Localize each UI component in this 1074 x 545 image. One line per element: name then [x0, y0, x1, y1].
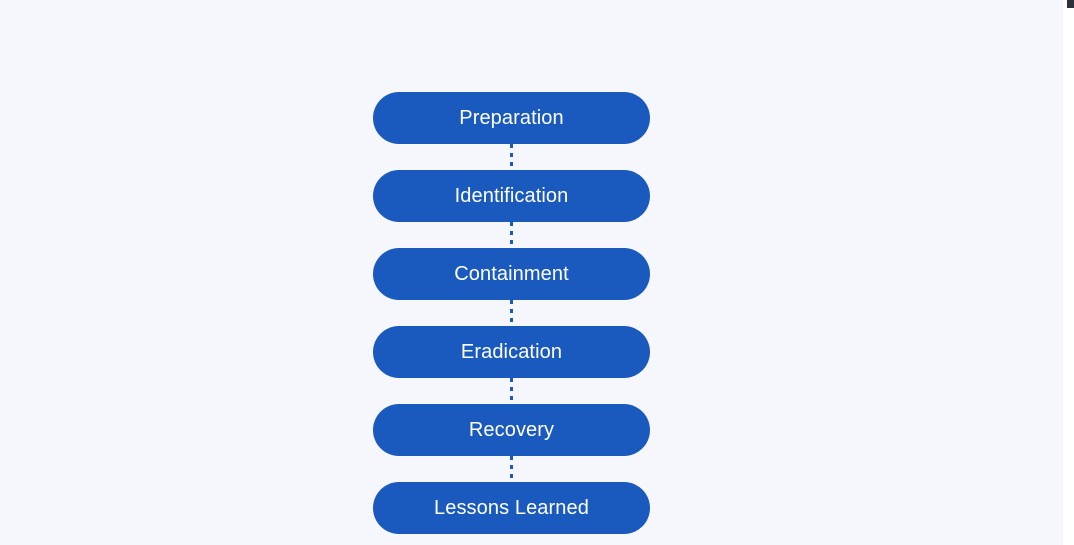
diagram-canvas: Preparation Identification Containment E…: [0, 0, 1074, 545]
flow-connector: [373, 378, 650, 404]
flow-connector: [373, 456, 650, 482]
flowchart: Preparation Identification Containment E…: [373, 92, 650, 534]
flow-row: Preparation: [373, 92, 650, 144]
dotted-line-icon: [510, 144, 513, 170]
flow-row: Eradication: [373, 326, 650, 378]
flow-node-label: Preparation: [459, 108, 564, 128]
flow-node-preparation[interactable]: Preparation: [373, 92, 650, 144]
flow-node-recovery[interactable]: Recovery: [373, 404, 650, 456]
flow-row: Recovery: [373, 404, 650, 456]
flow-connector: [373, 144, 650, 170]
dotted-line-icon: [510, 378, 513, 404]
flow-node-lessons-learned[interactable]: Lessons Learned: [373, 482, 650, 534]
flow-row: Containment: [373, 248, 650, 300]
flow-connector: [373, 222, 650, 248]
flow-node-identification[interactable]: Identification: [373, 170, 650, 222]
flow-connector: [373, 300, 650, 326]
flow-node-containment[interactable]: Containment: [373, 248, 650, 300]
flow-node-label: Containment: [454, 264, 569, 284]
flow-row: Lessons Learned: [373, 482, 650, 534]
dotted-line-icon: [510, 222, 513, 248]
dotted-line-icon: [510, 456, 513, 482]
flow-node-label: Recovery: [469, 420, 554, 440]
flow-node-eradication[interactable]: Eradication: [373, 326, 650, 378]
flow-row: Identification: [373, 170, 650, 222]
flow-node-label: Lessons Learned: [434, 498, 589, 518]
dotted-line-icon: [510, 300, 513, 326]
corner-marker: [1067, 0, 1074, 8]
flow-node-label: Eradication: [461, 342, 562, 362]
flow-node-label: Identification: [455, 186, 569, 206]
